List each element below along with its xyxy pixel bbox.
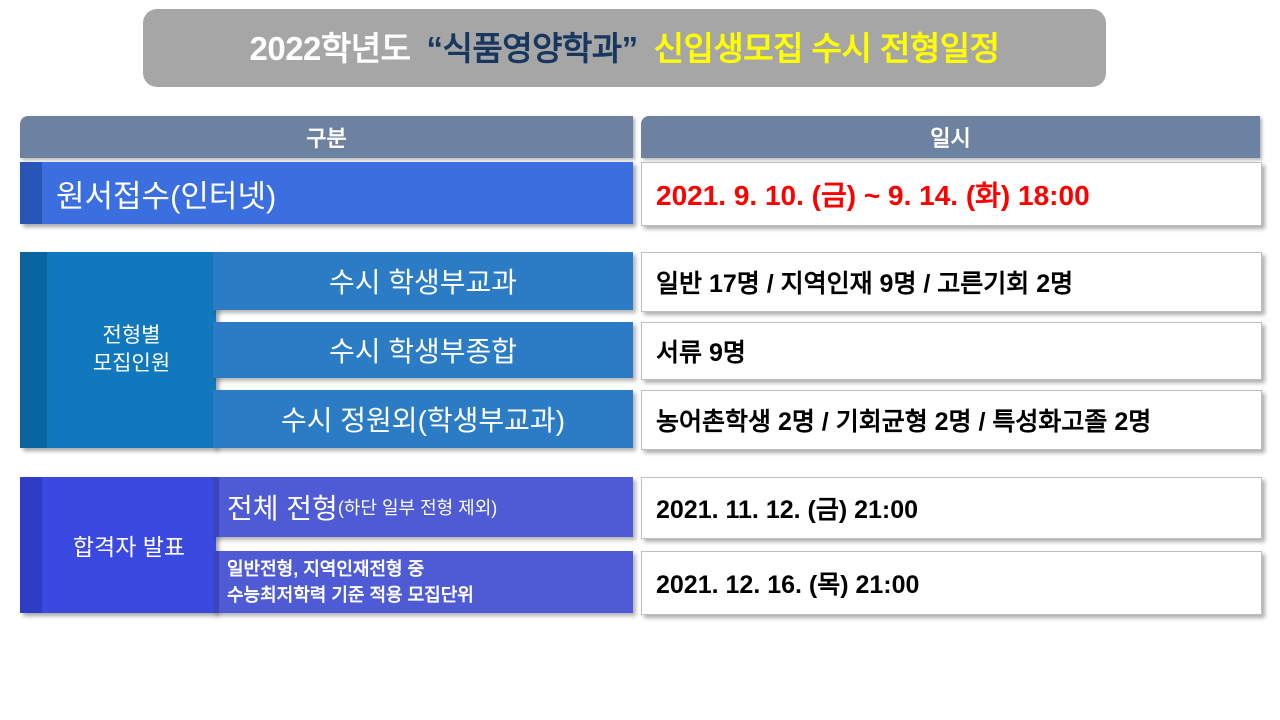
- accent-strip: [20, 477, 42, 613]
- results-row-name-0: 전체 전형(하단 일부 전형 제외): [213, 477, 633, 537]
- row-application-label: 원서접수(인터넷): [20, 162, 633, 224]
- quota-label-line1: 전형별: [103, 322, 161, 350]
- results-row-value-1: 2021. 12. 16. (목) 21:00: [642, 565, 919, 601]
- accent-strip: [20, 252, 47, 448]
- page-title: 2022학년도“식품영양학과”신입생모집 수시 전형일정: [250, 32, 1000, 65]
- accent-strip: [213, 551, 219, 613]
- quota-row-value-1: 서류 9명: [642, 333, 746, 369]
- results-row-name-1: 일반전형, 지역인재전형 중 수능최저학력 기준 적용 모집단위: [213, 551, 633, 613]
- title-department: “식품영양학과”: [427, 30, 638, 67]
- row-application-value: 2021. 9. 10. (금) ~ 9. 14. (화) 18:00: [641, 162, 1262, 226]
- title-year: 2022학년도: [250, 30, 411, 67]
- quota-label-text: 전형별 모집인원: [47, 252, 216, 448]
- results-row-name-small-0: (하단 일부 전형 제외): [338, 494, 497, 520]
- slide-root: 2022학년도“식품영양학과”신입생모집 수시 전형일정 구분 일시 원서접수(…: [0, 0, 1280, 720]
- results-row-value-0: 2021. 11. 12. (금) 21:00: [642, 490, 918, 526]
- quota-row-value-0: 일반 17명 / 지역인재 9명 / 고른기회 2명: [642, 264, 1073, 300]
- group-label-results: 합격자 발표: [20, 477, 216, 613]
- quota-row-name-1: 수시 학생부종합: [213, 322, 633, 378]
- application-label-text: 원서접수(인터넷): [56, 162, 627, 224]
- quota-row-value-2: 농어촌학생 2명 / 기회균형 2명 / 특성화고졸 2명: [642, 402, 1151, 438]
- accent-strip: [213, 477, 219, 537]
- results-row-name-big-1: 일반전형, 지역인재전형 중 수능최저학력 기준 적용 모집단위: [213, 556, 474, 608]
- quota-row-value-cell-2: 농어촌학생 2명 / 기회균형 2명 / 특성화고졸 2명: [641, 390, 1262, 450]
- quota-label-line2: 모집인원: [93, 350, 170, 378]
- title-banner: 2022학년도“식품영양학과”신입생모집 수시 전형일정: [143, 9, 1106, 87]
- accent-strip: [20, 162, 42, 224]
- title-subject: 신입생모집 수시 전형일정: [654, 30, 1000, 67]
- header-division: 구분: [20, 116, 633, 158]
- results-row-value-cell-1: 2021. 12. 16. (목) 21:00: [641, 551, 1262, 615]
- results-row-name-big-0: 전체 전형: [213, 487, 338, 527]
- quota-row-name-2: 수시 정원외(학생부교과): [213, 390, 633, 448]
- results-row-value-cell-0: 2021. 11. 12. (금) 21:00: [641, 477, 1262, 539]
- group-label-quota: 전형별 모집인원: [20, 252, 216, 448]
- header-datetime: 일시: [641, 116, 1260, 158]
- application-date-text: 2021. 9. 10. (금) ~ 9. 14. (화) 18:00: [642, 174, 1090, 214]
- quota-row-value-cell-0: 일반 17명 / 지역인재 9명 / 고른기회 2명: [641, 252, 1262, 312]
- results-label-text: 합격자 발표: [42, 477, 216, 613]
- quota-row-value-cell-1: 서류 9명: [641, 322, 1262, 380]
- quota-row-name-0: 수시 학생부교과: [213, 252, 633, 310]
